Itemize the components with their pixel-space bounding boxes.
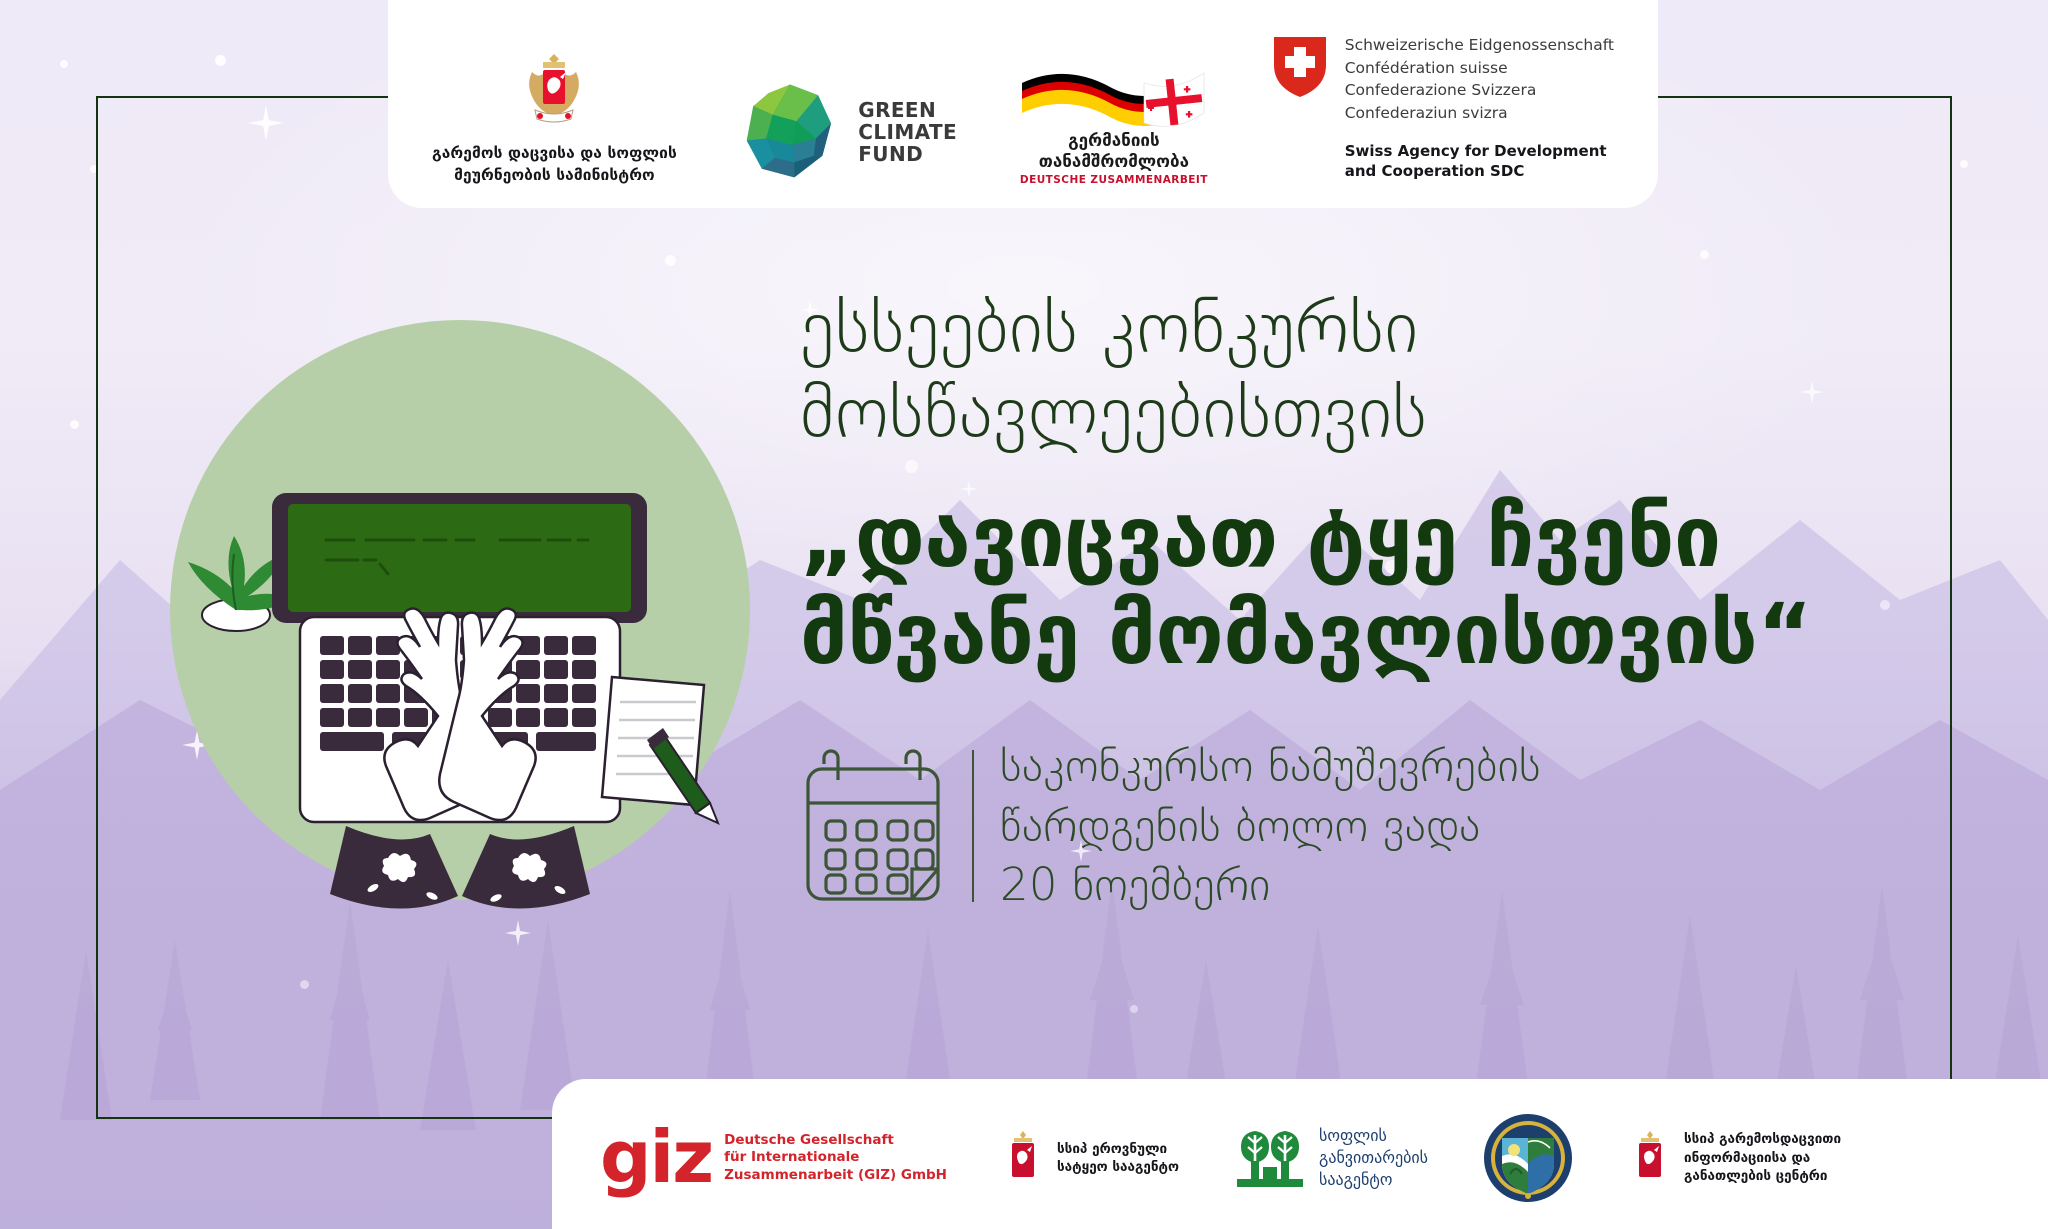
gcf-wordmark: GREEN CLIMATE FUND xyxy=(858,99,957,165)
logo-environmental-info-center: სსიპ გარემოსდაცვითი ინფორმაციისა და განა… xyxy=(1628,1129,1841,1187)
logo-protected-areas-agency xyxy=(1482,1112,1574,1204)
swiss-cross-shield-icon xyxy=(1271,34,1329,100)
logo-ministry-environment: გარემოს დაცვისა და სოფლის მეურნეობის სამ… xyxy=(432,50,677,186)
german-coop-georgian-text: გერმანიის თანამშრომლობა xyxy=(1039,131,1189,172)
logo-german-cooperation: გერმანიის თანამშრომლობა DEUTSCHE ZUSAMME… xyxy=(1016,61,1211,186)
logo-giz: giz Deutsche Gesellschaft für Internatio… xyxy=(600,1129,947,1187)
forestry-agency-name: სსიპ ეროვნული სატყეო სააგენტო xyxy=(1057,1140,1179,1177)
giz-wordmark: giz xyxy=(600,1129,712,1187)
swiss-confederation-names: Schweizerische Eidgenossenschaft Confédé… xyxy=(1345,34,1614,125)
swiss-agency-name: Swiss Agency for Development and Coopera… xyxy=(1345,141,1614,182)
partner-logos-footer: giz Deutsche Gesellschaft für Internatio… xyxy=(552,1079,2048,1229)
logo-rural-development-agency: სოფლის განვითარების სააგენტო xyxy=(1233,1125,1428,1191)
main-text-block: ესსეების კონკურსი მოსწავლეებისთვის „დავი… xyxy=(800,285,1980,915)
deadline-text: საკონკურსო ნამუშევრების წარდგენის ბოლო ვ… xyxy=(1000,736,1541,916)
deadline-row: საკონკურსო ნამუშევრების წარდგენის ბოლო ვ… xyxy=(800,736,1980,916)
german-coop-de-text: DEUTSCHE ZUSAMMENARBEIT xyxy=(1020,174,1208,186)
vertical-divider xyxy=(972,750,974,902)
logo-green-climate-fund: GREEN CLIMATE FUND xyxy=(736,78,957,186)
env-info-center-name: სსიპ გარემოსდაცვითი ინფორმაციისა და განა… xyxy=(1684,1130,1841,1185)
german-georgian-flag-ribbon-icon xyxy=(1016,61,1211,129)
ministry-name: გარემოს დაცვისა და სოფლის მეურნეობის სამ… xyxy=(432,142,677,186)
partner-logos-header: გარემოს დაცვისა და სოფლის მეურნეობის სამ… xyxy=(388,0,1658,208)
logo-national-forestry-agency: სსიპ ეროვნული სატყეო სააგენტო xyxy=(1001,1129,1179,1187)
protected-areas-agency-seal-icon xyxy=(1482,1112,1574,1204)
georgia-coat-of-arms-icon xyxy=(1001,1129,1045,1187)
person-typing-on-laptop-illustration xyxy=(160,310,760,910)
georgia-coat-of-arms-icon xyxy=(1628,1129,1672,1187)
logo-swiss-confederation: Schweizerische Eidgenossenschaft Confédé… xyxy=(1271,34,1614,186)
swiss-text-group: Schweizerische Eidgenossenschaft Confédé… xyxy=(1345,34,1614,182)
giz-fullname: Deutsche Gesellschaft für Internationale… xyxy=(724,1132,947,1185)
two-trees-house-icon xyxy=(1233,1125,1307,1191)
green-climate-fund-globe-icon xyxy=(736,78,844,186)
kicker-title: ესსეების კონკურსი მოსწავლეებისთვის xyxy=(800,285,1980,455)
georgia-coat-of-arms-icon xyxy=(519,50,589,134)
rural-development-name: სოფლის განვითარების სააგენტო xyxy=(1319,1125,1428,1190)
poster-root: გარემოს დაცვისა და სოფლის მეურნეობის სამ… xyxy=(0,0,2048,1229)
headline-title: „დავიცვათ ტყე ჩვენი მწვანე მომავლისთვის“ xyxy=(800,489,1980,684)
calendar-icon xyxy=(800,747,946,905)
